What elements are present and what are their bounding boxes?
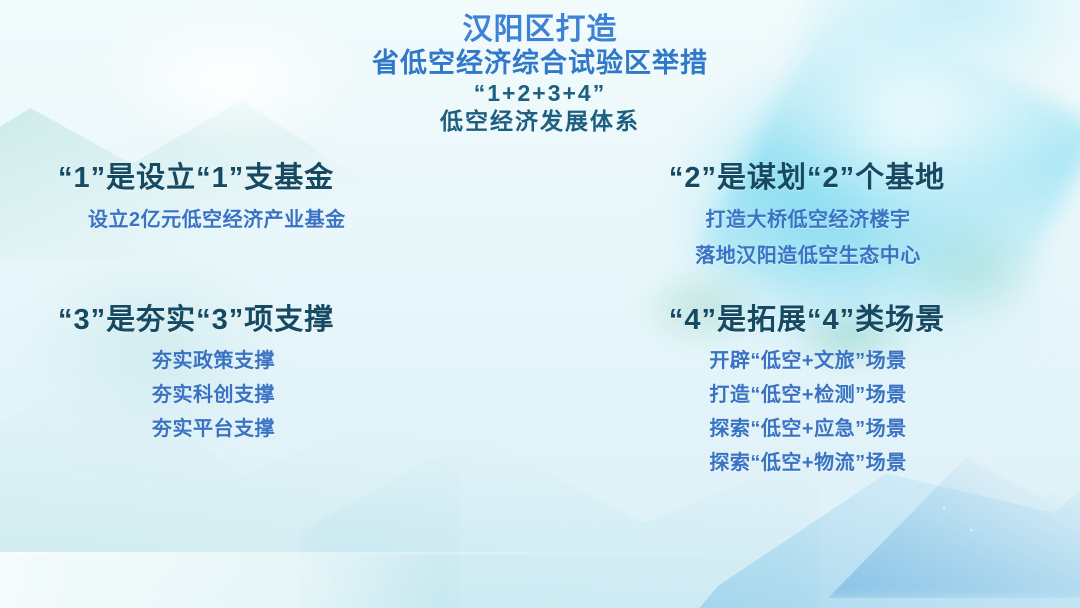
- block-support-list: 夯实政策支撑 夯实科创支撑 夯实平台支撑: [40, 351, 500, 439]
- title-line-2: 省低空经济综合试验区举措: [0, 49, 1080, 77]
- list-item: 夯实政策支撑: [152, 351, 500, 371]
- list-item: 设立2亿元低空经济产业基金: [88, 210, 500, 230]
- list-item: 开辟“低空+文旅”场景: [580, 351, 1036, 371]
- list-item: 探索“低空+应急”场景: [580, 419, 1036, 439]
- block-scenario-list: 开辟“低空+文旅”场景 打造“低空+检测”场景 探索“低空+应急”场景 探索“低…: [580, 351, 1040, 473]
- title-line-3: “1+2+3+4”: [0, 82, 1080, 106]
- divider-band: [0, 552, 1080, 555]
- list-item: 打造“低空+检测”场景: [580, 385, 1036, 405]
- poster-canvas: 汉阳区打造 省低空经济综合试验区举措 “1+2+3+4” 低空经济发展体系 “1…: [0, 0, 1080, 608]
- footer-panel: [0, 555, 440, 608]
- block-fund-list: 设立2亿元低空经济产业基金: [40, 210, 500, 230]
- block-base: “2”是谋划“2”个基地 打造大桥低空经济楼宇 落地汉阳造低空生态中心: [540, 160, 1080, 282]
- block-fund: “1”是设立“1”支基金 设立2亿元低空经济产业基金: [0, 160, 540, 282]
- title-line-1: 汉阳区打造: [0, 14, 1080, 45]
- list-item: 夯实平台支撑: [152, 419, 500, 439]
- block-support: “3”是夯实“3”项支撑 夯实政策支撑 夯实科创支撑 夯实平台支撑: [0, 298, 540, 486]
- list-item: 探索“低空+物流”场景: [580, 453, 1036, 473]
- content-grid: “1”是设立“1”支基金 设立2亿元低空经济产业基金 “2”是谋划“2”个基地 …: [0, 160, 1080, 487]
- block-support-heading: “3”是夯实“3”项支撑: [40, 302, 500, 338]
- list-item: 打造大桥低空经济楼宇: [580, 210, 1036, 230]
- block-scenario: “4”是拓展“4”类场景 开辟“低空+文旅”场景 打造“低空+检测”场景 探索“…: [540, 298, 1080, 486]
- poster-title: 汉阳区打造 省低空经济综合试验区举措 “1+2+3+4” 低空经济发展体系: [0, 0, 1080, 134]
- block-base-heading: “2”是谋划“2”个基地: [580, 160, 1040, 196]
- list-item: 夯实科创支撑: [152, 385, 500, 405]
- block-base-list: 打造大桥低空经济楼宇 落地汉阳造低空生态中心: [580, 210, 1040, 266]
- block-scenario-heading: “4”是拓展“4”类场景: [580, 302, 1040, 338]
- list-item: 落地汉阳造低空生态中心: [580, 246, 1036, 266]
- title-line-4: 低空经济发展体系: [0, 110, 1080, 134]
- block-fund-heading: “1”是设立“1”支基金: [40, 160, 500, 196]
